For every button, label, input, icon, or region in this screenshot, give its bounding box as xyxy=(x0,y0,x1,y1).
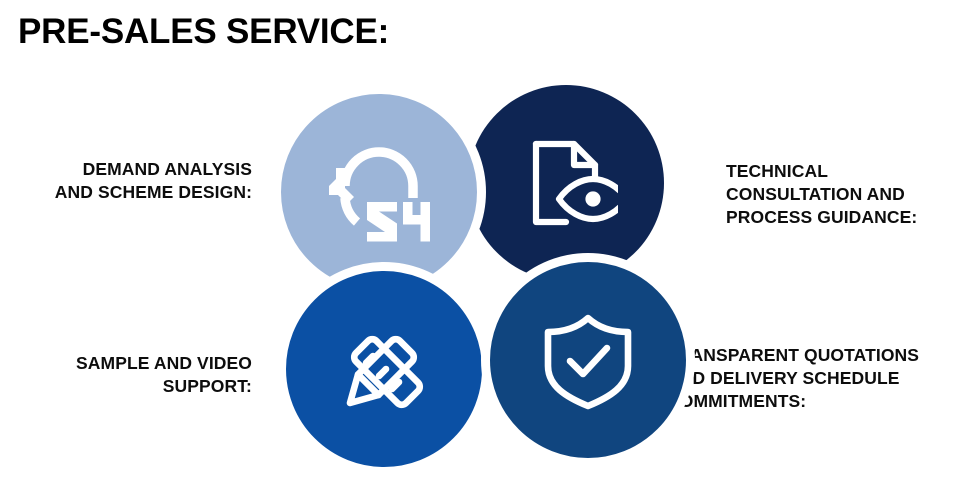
label-line: DEMAND ANALYSIS xyxy=(10,158,252,181)
label-line: CONSULTATION AND xyxy=(726,183,958,206)
24-hour-rotate-arrow-icon xyxy=(323,142,435,242)
shield-check-icon xyxy=(536,308,640,412)
label-line: PROCESS GUIDANCE: xyxy=(726,206,958,229)
label-line: COMMITMENTS: xyxy=(667,390,960,413)
label-line: TRANSPARENT QUOTATIONS xyxy=(667,344,960,367)
document-eye-review-icon xyxy=(514,131,618,235)
icon-wrap-sample xyxy=(286,271,482,467)
circle-sample-video-support[interactable] xyxy=(277,262,491,476)
icon-wrap-technical xyxy=(468,85,664,281)
label-line: TECHNICAL xyxy=(726,160,958,183)
label-line: AND DELIVERY SCHEDULE xyxy=(667,367,960,390)
icon-wrap-demand xyxy=(281,94,477,290)
pencil-ruler-design-icon xyxy=(330,315,438,423)
label-technical-consultation: TECHNICAL CONSULTATION AND PROCESS GUIDA… xyxy=(726,160,958,229)
infographic-canvas: PRE-SALES SERVICE: xyxy=(0,0,960,498)
label-line: AND SCHEME DESIGN: xyxy=(10,181,252,204)
circle-technical-consultation[interactable] xyxy=(468,85,664,281)
label-line: SAMPLE AND VIDEO xyxy=(10,352,252,375)
label-sample-video-support: SAMPLE AND VIDEO SUPPORT: xyxy=(10,352,252,398)
icon-wrap-quotation xyxy=(490,262,686,458)
circle-transparent-quotations[interactable] xyxy=(481,253,695,467)
label-demand-analysis: DEMAND ANALYSIS AND SCHEME DESIGN: xyxy=(10,158,252,204)
circle-cluster xyxy=(0,0,960,498)
label-line: SUPPORT: xyxy=(10,375,252,398)
label-transparent-quotations: TRANSPARENT QUOTATIONS AND DELIVERY SCHE… xyxy=(667,344,960,413)
